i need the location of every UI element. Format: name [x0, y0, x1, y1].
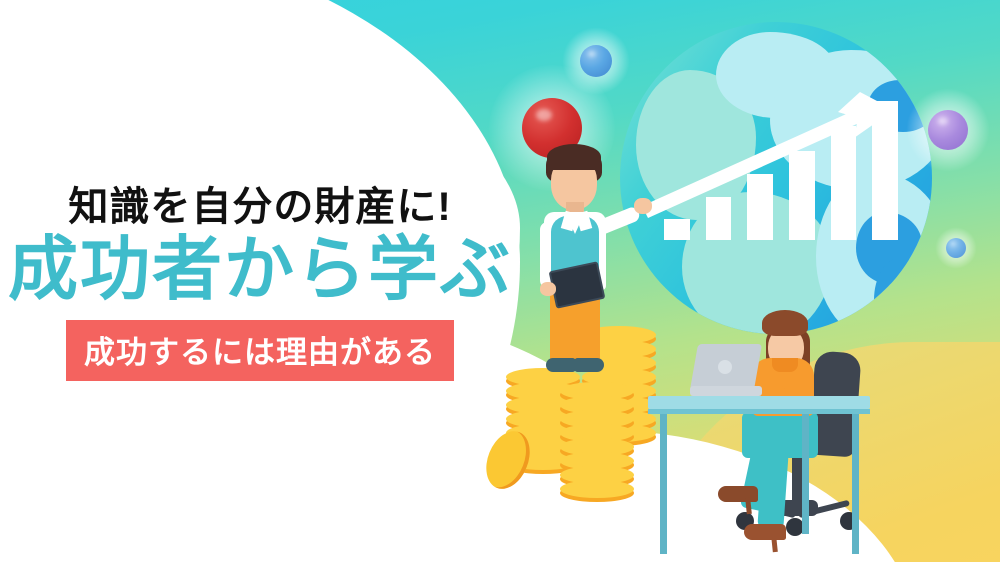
gold-coin-face	[560, 480, 634, 498]
gold-coin-stack-front	[560, 386, 634, 512]
chart-bar	[706, 197, 732, 240]
man-left-hand	[540, 282, 556, 296]
chart-bar	[789, 151, 815, 240]
office-desk-top	[648, 396, 870, 409]
woman-hair-front	[762, 310, 808, 336]
standing-businessman	[516, 140, 656, 380]
chart-bar	[872, 101, 898, 240]
growth-bar-chart	[656, 80, 906, 240]
blue-bubble	[580, 45, 612, 77]
woman-leg-back	[757, 451, 788, 529]
small-blue-bubble	[946, 238, 966, 258]
laptop-logo	[718, 360, 732, 374]
laptop-keyboard	[690, 386, 762, 396]
man-right-shoe	[574, 358, 604, 372]
man-left-shoe	[546, 358, 576, 372]
woman-shoe-front	[718, 486, 758, 502]
chart-bar	[664, 219, 690, 240]
page-title: 成功者から学ぶ	[0, 232, 520, 308]
subtitle-badge: 成功するには理由がある	[66, 320, 454, 381]
kicker-text: 知識を自分の財産に!	[0, 186, 520, 228]
globe-landmass	[874, 258, 932, 334]
chart-bar	[831, 126, 857, 240]
headline-text-block: 知識を自分の財産に! 成功者から学ぶ 成功するには理由がある	[0, 186, 520, 381]
woman-collar	[772, 358, 798, 372]
office-desk-leg-middle	[802, 414, 809, 534]
hero-banner: 知識を自分の財産に! 成功者から学ぶ 成功するには理由がある	[0, 0, 1000, 562]
office-desk-leg-left	[660, 414, 667, 554]
office-desk-leg-right	[852, 414, 859, 554]
office-desk-edge	[648, 409, 870, 414]
subtitle-wrapper: 成功するには理由がある	[0, 308, 520, 381]
chart-bar	[747, 174, 773, 240]
man-right-hand	[634, 198, 652, 214]
purple-bubble	[928, 110, 968, 150]
man-hair-top	[547, 144, 601, 170]
woman-shoe-back	[744, 524, 786, 540]
